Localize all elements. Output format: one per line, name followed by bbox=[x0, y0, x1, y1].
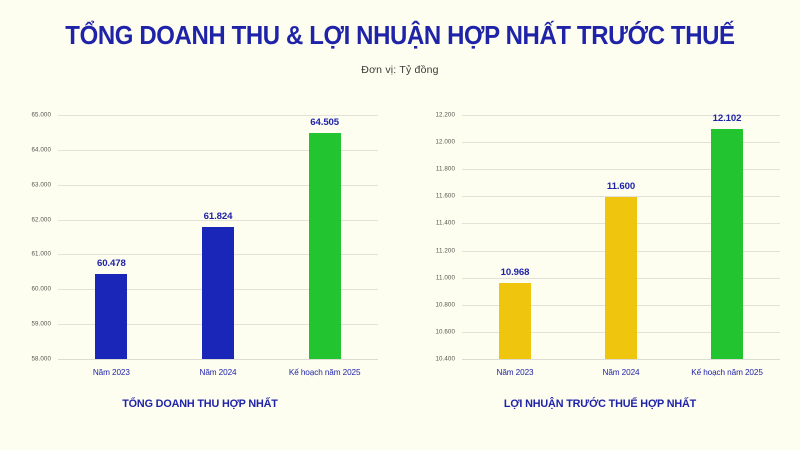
y-axis-tick-label: 10.800 bbox=[435, 301, 455, 308]
chart-panel-profit: 10.40010.60010.80011.00011.20011.40011.6… bbox=[400, 108, 800, 428]
bar-k-ho-ch-n-m-2025[interactable] bbox=[309, 133, 341, 360]
x-axis-category-label: Kế hoạch năm 2025 bbox=[289, 368, 361, 377]
bar-group: 61.824 bbox=[165, 116, 272, 360]
plot-area-profit: 10.40010.60010.80011.00011.20011.40011.6… bbox=[462, 116, 780, 360]
y-axis-tick-label: 10.400 bbox=[435, 356, 455, 363]
y-axis-tick-label: 60.000 bbox=[31, 286, 51, 293]
bar-n-m-2023[interactable] bbox=[499, 283, 531, 360]
x-axis-category-label: Năm 2023 bbox=[93, 368, 130, 377]
charts-container: 58.00059.00060.00061.00062.00063.00064.0… bbox=[0, 108, 800, 428]
bar-k-ho-ch-n-m-2025[interactable] bbox=[711, 129, 743, 360]
bar-value-label: 60.478 bbox=[97, 258, 126, 269]
y-axis-tick-label: 62.000 bbox=[31, 216, 51, 223]
y-axis-tick-label: 61.000 bbox=[31, 251, 51, 258]
bars-revenue: 60.47861.82464.505 bbox=[58, 116, 378, 360]
y-axis-tick-label: 11.800 bbox=[436, 166, 455, 173]
y-axis-tick-label: 11.000 bbox=[436, 274, 455, 281]
bar-group: 12.102 bbox=[674, 116, 780, 360]
bar-group: 10.968 bbox=[462, 116, 568, 360]
plot-area-revenue: 58.00059.00060.00061.00062.00063.00064.0… bbox=[58, 116, 378, 360]
y-axis-tick-label: 11.600 bbox=[436, 193, 455, 200]
unit-subtitle: Đơn vị: Tỷ đồng bbox=[0, 64, 800, 76]
y-axis-tick-label: 64.000 bbox=[31, 146, 51, 153]
bar-value-label: 12.102 bbox=[713, 113, 742, 124]
x-axis-category-label: Kế hoạch năm 2025 bbox=[691, 368, 763, 377]
page-title: TỔNG DOANH THU & LỢI NHUẬN HỢP NHẤT TRƯỚ… bbox=[24, 22, 776, 50]
bar-group: 64.505 bbox=[271, 116, 378, 360]
bar-n-m-2024[interactable] bbox=[202, 227, 234, 360]
x-axis-labels-revenue: Năm 2023Năm 2024Kế hoạch năm 2025 bbox=[58, 368, 378, 382]
y-axis-tick-label: 10.600 bbox=[435, 328, 455, 335]
y-axis-tick-label: 65.000 bbox=[31, 112, 51, 119]
bar-n-m-2024[interactable] bbox=[605, 197, 637, 360]
bar-value-label: 11.600 bbox=[607, 181, 635, 192]
y-axis-tick-label: 11.400 bbox=[436, 220, 455, 227]
bar-value-label: 64.505 bbox=[310, 117, 339, 128]
infographic-page: TỔNG DOANH THU & LỢI NHUẬN HỢP NHẤT TRƯỚ… bbox=[0, 0, 800, 450]
bar-value-label: 10.968 bbox=[501, 267, 530, 278]
x-axis-category-label: Năm 2024 bbox=[200, 368, 237, 377]
bar-group: 60.478 bbox=[58, 116, 165, 360]
x-axis-line-profit bbox=[462, 359, 780, 360]
bar-n-m-2023[interactable] bbox=[95, 274, 127, 360]
y-axis-tick-label: 12.000 bbox=[435, 139, 455, 146]
header: TỔNG DOANH THU & LỢI NHUẬN HỢP NHẤT TRƯỚ… bbox=[0, 22, 800, 76]
x-axis-line-revenue bbox=[58, 359, 378, 360]
y-axis-tick-label: 11.200 bbox=[436, 247, 455, 254]
bars-profit: 10.96811.60012.102 bbox=[462, 116, 780, 360]
bar-group: 11.600 bbox=[568, 116, 674, 360]
chart-caption-profit: LỢI NHUẬN TRƯỚC THUẾ HỢP NHẤT bbox=[400, 398, 800, 410]
y-axis-tick-label: 12.200 bbox=[435, 112, 455, 119]
x-axis-labels-profit: Năm 2023Năm 2024Kế hoạch năm 2025 bbox=[462, 368, 780, 382]
y-axis-tick-label: 58.000 bbox=[31, 356, 51, 363]
x-axis-category-label: Năm 2024 bbox=[603, 368, 640, 377]
bar-value-label: 61.824 bbox=[204, 211, 233, 222]
x-axis-category-label: Năm 2023 bbox=[497, 368, 534, 377]
y-axis-tick-label: 63.000 bbox=[31, 181, 51, 188]
y-axis-tick-label: 59.000 bbox=[31, 321, 51, 328]
chart-caption-revenue: TỔNG DOANH THU HỢP NHẤT bbox=[0, 398, 400, 410]
chart-panel-revenue: 58.00059.00060.00061.00062.00063.00064.0… bbox=[0, 108, 400, 428]
